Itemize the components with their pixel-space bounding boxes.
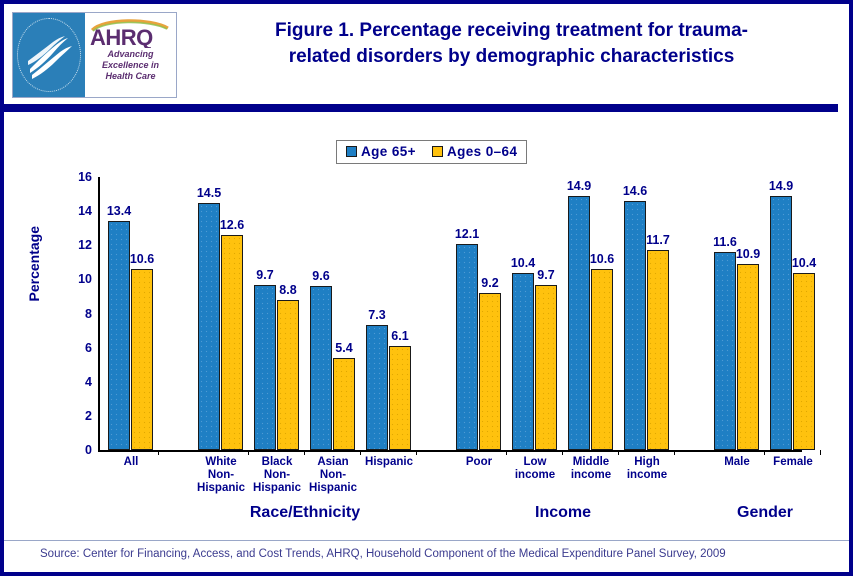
bar-gold bbox=[535, 285, 557, 451]
x-axis-tick bbox=[764, 450, 765, 455]
x-axis-tick bbox=[416, 450, 417, 455]
ahrq-logo: AHRQ Advancing Excellence in Health Care bbox=[12, 12, 177, 98]
tagline-line-1: Advancing bbox=[85, 49, 176, 60]
bar-value-label: 7.3 bbox=[360, 308, 394, 322]
category-label-line: All bbox=[99, 456, 163, 469]
plot-area: 13.410.6All14.512.6WhiteNon-Hispanic9.78… bbox=[98, 177, 802, 450]
figure-header: AHRQ Advancing Excellence in Health Care… bbox=[4, 4, 849, 104]
legend-item-0: Age 65+ bbox=[346, 144, 416, 159]
ahrq-tagline: Advancing Excellence in Health Care bbox=[85, 49, 176, 82]
x-axis-tick bbox=[562, 450, 563, 455]
bar-group: 13.410.6All bbox=[108, 177, 154, 450]
bar-value-label: 12.1 bbox=[450, 227, 484, 241]
bar-group: 14.512.6WhiteNon-Hispanic bbox=[198, 177, 244, 450]
figure-title: Figure 1. Percentage receiving treatment… bbox=[184, 18, 839, 70]
category-label: Highincome bbox=[615, 456, 679, 482]
x-axis-tick bbox=[304, 450, 305, 455]
category-label: AsianNon-Hispanic bbox=[301, 456, 365, 495]
bar-value-label: 10.9 bbox=[731, 247, 765, 261]
category-label-line: Non- bbox=[301, 469, 365, 482]
x-axis-tick bbox=[360, 450, 361, 455]
bar-gold bbox=[479, 293, 501, 450]
bar-blue bbox=[456, 244, 478, 450]
y-tick-16: 16 bbox=[66, 170, 92, 184]
y-tick-0: 0 bbox=[66, 443, 92, 457]
category-label-line: Poor bbox=[447, 456, 511, 469]
bar-blue bbox=[512, 273, 534, 450]
category-label: Hispanic bbox=[357, 456, 421, 469]
category-label-line: Male bbox=[705, 456, 769, 469]
bar-value-label: 14.9 bbox=[764, 179, 798, 193]
bar-value-label: 11.7 bbox=[641, 233, 675, 247]
bar-gold bbox=[333, 358, 355, 450]
bar-value-label: 8.8 bbox=[271, 283, 305, 297]
bar-gold bbox=[277, 300, 299, 450]
title-line-1: Figure 1. Percentage receiving treatment… bbox=[184, 18, 839, 44]
tagline-line-3: Health Care bbox=[85, 71, 176, 82]
y-tick-4: 4 bbox=[66, 375, 92, 389]
bar-value-label: 9.2 bbox=[473, 276, 507, 290]
category-label-line: Hispanic bbox=[357, 456, 421, 469]
bar-gold bbox=[389, 346, 411, 450]
bar-value-label: 10.6 bbox=[585, 252, 619, 266]
source-note: Source: Center for Financing, Access, an… bbox=[40, 548, 726, 560]
category-label: WhiteNon-Hispanic bbox=[189, 456, 253, 495]
category-label-line: Female bbox=[761, 456, 825, 469]
group-title-gender: Gender bbox=[737, 504, 793, 522]
y-tick-6: 6 bbox=[66, 341, 92, 355]
x-axis-tick bbox=[820, 450, 821, 455]
legend-item-1: Ages 0–64 bbox=[432, 144, 517, 159]
bar-value-label: 10.6 bbox=[125, 252, 159, 266]
bar-group: 10.49.7Lowincome bbox=[512, 177, 558, 450]
bar-value-label: 6.1 bbox=[383, 329, 417, 343]
group-title-income: Income bbox=[535, 504, 591, 522]
category-label: Female bbox=[761, 456, 825, 469]
bar-blue bbox=[254, 285, 276, 451]
x-axis-line bbox=[98, 450, 802, 452]
bar-group: 12.19.2Poor bbox=[456, 177, 502, 450]
bar-gold bbox=[591, 269, 613, 450]
title-line-2: related disorders by demographic charact… bbox=[184, 44, 839, 70]
tagline-line-2: Excellence in bbox=[85, 60, 176, 71]
category-label: Middleincome bbox=[559, 456, 623, 482]
bar-value-label: 14.6 bbox=[618, 184, 652, 198]
category-label: Lowincome bbox=[503, 456, 567, 482]
hhs-bird-icon bbox=[22, 25, 76, 85]
bar-value-label: 9.7 bbox=[529, 268, 563, 282]
bar-value-label: 5.4 bbox=[327, 341, 361, 355]
bar-gold bbox=[793, 273, 815, 450]
bar-group: 14.611.7Highincome bbox=[624, 177, 670, 450]
category-label-line: Hispanic bbox=[301, 482, 365, 495]
svg-text:AHRQ: AHRQ bbox=[90, 25, 153, 48]
bar-group: 11.610.9Male bbox=[714, 177, 760, 450]
category-label-line: income bbox=[503, 469, 567, 482]
y-tick-2: 2 bbox=[66, 409, 92, 423]
bar-blue bbox=[366, 325, 388, 450]
category-label-line: White bbox=[189, 456, 253, 469]
y-tick-10: 10 bbox=[66, 272, 92, 286]
category-label-line: Hispanic bbox=[189, 482, 253, 495]
bar-blue bbox=[310, 286, 332, 450]
header-divider bbox=[4, 104, 838, 112]
category-label-line: Black bbox=[245, 456, 309, 469]
bar-value-label: 12.6 bbox=[215, 218, 249, 232]
y-axis-ticks: 1614121086420 bbox=[62, 177, 92, 450]
legend-swatch-icon bbox=[346, 146, 357, 157]
legend-swatch-icon bbox=[432, 146, 443, 157]
category-label-line: Non- bbox=[245, 469, 309, 482]
bar-group: 14.910.6Middleincome bbox=[568, 177, 614, 450]
bar-blue bbox=[198, 203, 220, 450]
bar-group: 9.65.4AsianNon-Hispanic bbox=[310, 177, 356, 450]
y-tick-14: 14 bbox=[66, 204, 92, 218]
y-tick-12: 12 bbox=[66, 238, 92, 252]
legend-label: Age 65+ bbox=[361, 144, 416, 159]
bar-gold bbox=[737, 264, 759, 450]
bar-value-label: 14.9 bbox=[562, 179, 596, 193]
category-label: All bbox=[99, 456, 163, 469]
chart-legend: Age 65+Ages 0–64 bbox=[336, 140, 527, 164]
category-label-line: Non- bbox=[189, 469, 253, 482]
footer-divider bbox=[4, 540, 849, 541]
bar-group: 7.36.1Hispanic bbox=[366, 177, 412, 450]
bar-value-label: 14.5 bbox=[192, 186, 226, 200]
bar-value-label: 10.4 bbox=[787, 256, 821, 270]
category-label-line: Asian bbox=[301, 456, 365, 469]
bar-group: 9.78.8BlackNon-Hispanic bbox=[254, 177, 300, 450]
group-title-race-ethnicity: Race/Ethnicity bbox=[250, 504, 360, 522]
bar-value-label: 9.6 bbox=[304, 269, 338, 283]
category-label-line: Hispanic bbox=[245, 482, 309, 495]
category-label: BlackNon-Hispanic bbox=[245, 456, 309, 495]
category-label-line: income bbox=[559, 469, 623, 482]
x-axis-tick bbox=[158, 450, 159, 455]
category-label-line: income bbox=[615, 469, 679, 482]
category-label: Male bbox=[705, 456, 769, 469]
x-axis-tick bbox=[506, 450, 507, 455]
bar-gold bbox=[221, 235, 243, 450]
bar-value-label: 13.4 bbox=[102, 204, 136, 218]
legend-label: Ages 0–64 bbox=[447, 144, 517, 159]
bar-value-label: 9.7 bbox=[248, 268, 282, 282]
y-axis-label: Percentage bbox=[26, 226, 48, 301]
bar-blue bbox=[714, 252, 736, 450]
hhs-seal-icon bbox=[13, 13, 85, 97]
x-axis-tick bbox=[618, 450, 619, 455]
category-label-line: High bbox=[615, 456, 679, 469]
bar-gold bbox=[131, 269, 153, 450]
y-tick-8: 8 bbox=[66, 307, 92, 321]
x-axis-tick bbox=[248, 450, 249, 455]
bar-gold bbox=[647, 250, 669, 450]
x-axis-tick bbox=[674, 450, 675, 455]
ahrq-wordmark-block: AHRQ Advancing Excellence in Health Care bbox=[85, 13, 176, 97]
category-label: Poor bbox=[447, 456, 511, 469]
category-label-line: Middle bbox=[559, 456, 623, 469]
category-label-line: Low bbox=[503, 456, 567, 469]
bar-group: 14.910.4Female bbox=[770, 177, 816, 450]
figure-container: AHRQ Advancing Excellence in Health Care… bbox=[0, 0, 853, 576]
ahrq-wordmark-icon: AHRQ bbox=[88, 18, 174, 48]
bar-blue bbox=[770, 196, 792, 450]
bar-blue bbox=[568, 196, 590, 450]
